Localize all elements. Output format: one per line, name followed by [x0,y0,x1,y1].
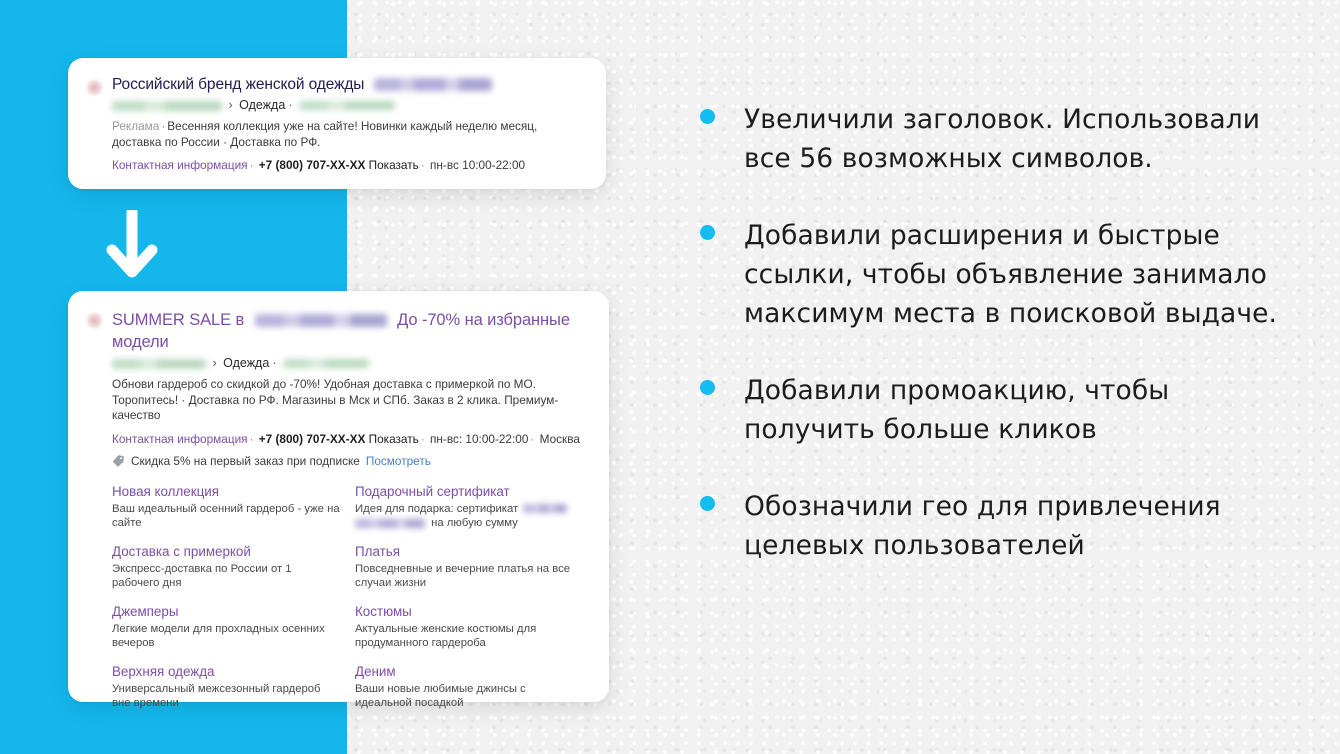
bullet-text: Добавили расширения и быстрые ссылки, чт… [744,216,1290,333]
sitelink-item[interactable]: Деним Ваши новые любимые джинсы с идеаль… [355,663,589,711]
url-category-before: Одежда [239,98,285,112]
ad-description-before-text: Весенняя коллекция уже на сайте! Новинки… [112,119,537,149]
url-separator: › [209,356,219,370]
site-favicon [86,79,103,96]
list-item: Добавили расширения и быстрые ссылки, чт… [700,216,1290,333]
ad-description-before: Реклама·Весенняя коллекция уже на сайте!… [112,119,586,150]
ad-promo-row[interactable]: Скидка 5% на первый заказ при подписке П… [112,453,589,469]
slide-canvas: Российский бренд женской одежды › Одежда… [0,0,1340,754]
sitelink-title[interactable]: Подарочный сертификат [355,483,589,501]
list-item: Обозначили гео для привлечения целевых п… [700,487,1290,565]
bullet-text: Увеличили заголовок. Использовали все 56… [744,100,1290,178]
site-favicon [86,312,103,329]
phone-number-after: +7 (800) 707-XX-XX [259,432,366,446]
sitelink-item[interactable]: Новая коллекция Ваш идеальный осенний га… [112,483,348,531]
sitelink-desc: Ваш идеальный осенний гардероб - уже на … [112,502,340,531]
show-phone-button-after[interactable]: Показать [369,432,419,446]
sitelinks-grid: Новая коллекция Ваш идеальный осенний га… [112,483,589,711]
redacted-domain-before [112,101,222,111]
bullet-dot-icon [700,109,715,124]
working-hours-before: пн-вс 10:00-22:00 [430,158,525,172]
working-hours-after: пн-вс: 10:00-22:00 [430,432,528,446]
ad-url-after[interactable]: › Одежда· [112,355,589,372]
redacted-url-tail-after [283,359,369,368]
sitelink-title[interactable]: Костюмы [355,603,589,621]
sitelink-item[interactable]: Платья Повседневные и вечерние платья на… [355,543,589,591]
sitelink-title[interactable]: Верхняя одежда [112,663,348,681]
ad-contact-before[interactable]: Контактная информация· +7 (800) 707-XX-X… [112,157,586,173]
bullet-text: Обозначили гео для привлечения целевых п… [744,487,1290,565]
sitelink-title[interactable]: Доставка с примеркой [112,543,348,561]
sitelink-desc: Идея для подарка: сертификат на любую су… [355,502,583,531]
promo-text: Скидка 5% на первый заказ при подписке [131,453,360,469]
ad-title-after[interactable]: SUMMER SALE в До -70% на избранные модел… [112,309,589,353]
sitelink-title[interactable]: Платья [355,543,589,561]
sitelink-title[interactable]: Новая коллекция [112,483,348,501]
price-tag-icon [112,454,125,467]
sitelink-title[interactable]: Деним [355,663,589,681]
contact-info-link-after[interactable]: Контактная информация [112,432,248,446]
bullet-dot-icon [700,225,715,240]
sitelink-desc-part1: Идея для подарка: сертификат [355,503,518,515]
promo-view-link[interactable]: Посмотреть [366,453,431,469]
redacted-url-tail-before [299,101,395,110]
ad-card-before[interactable]: Российский бренд женской одежды › Одежда… [68,58,606,189]
redacted-brand-after [255,314,387,327]
contact-info-link-before[interactable]: Контактная информация [112,158,248,172]
ad-description-after-text: Обнови гардероб со скидкой до -70%! Удоб… [112,377,558,422]
sitelink-desc: Легкие модели для прохладных осенних веч… [112,622,340,651]
bullet-text: Добавили промоакцию, чтобы получить боль… [744,371,1290,449]
list-item: Увеличили заголовок. Использовали все 56… [700,100,1290,178]
arrow-down-icon [104,210,160,282]
ad-label-before: Реклама [112,119,159,133]
sitelink-item[interactable]: Доставка с примеркой Экспресс-доставка п… [112,543,348,591]
ad-contact-after[interactable]: Контактная информация· +7 (800) 707-XX-X… [112,431,589,447]
redacted-sitelink-brand-2 [355,519,425,528]
sitelink-desc: Повседневные и вечерние платья на все сл… [355,562,583,591]
phone-number-before: +7 (800) 707-XX-XX [259,158,366,172]
sitelink-item[interactable]: Костюмы Актуальные женские костюмы для п… [355,603,589,651]
sitelink-desc: Актуальные женские костюмы для продуманн… [355,622,583,651]
ad-description-after: Обнови гардероб со скидкой до -70%! Удоб… [112,377,589,424]
ad-title-before[interactable]: Российский бренд женской одежды [112,75,586,95]
redacted-domain-after [112,359,206,369]
ad-title-before-text: Российский бренд женской одежды [112,76,364,93]
url-category-after: Одежда [223,356,269,370]
sitelink-item[interactable]: Джемперы Легкие модели для прохладных ос… [112,603,348,651]
sitelink-desc-part2: на любую сумму [431,517,518,529]
sitelink-item[interactable]: Верхняя одежда Универсальный межсезонный… [112,663,348,711]
ad-card-after[interactable]: SUMMER SALE в До -70% на избранные модел… [68,291,609,702]
sitelink-desc: Ваши новые любимые джинсы с идеальной по… [355,682,583,711]
ad-url-before[interactable]: › Одежда· [112,97,586,114]
show-phone-button-before[interactable]: Показать [369,158,419,172]
redacted-sitelink-brand [523,504,567,513]
bullet-dot-icon [700,380,715,395]
city-label-after: Москва [540,432,580,446]
url-separator: › [225,98,235,112]
takeaways-list: Увеличили заголовок. Использовали все 56… [700,100,1290,603]
ad-title-after-part1: SUMMER SALE в [112,311,244,329]
bullet-dot-icon [700,496,715,511]
redacted-brand-before [374,78,492,91]
sitelink-desc: Экспресс-доставка по России от 1 рабочег… [112,562,340,591]
sitelink-desc: Универсальный межсезонный гардероб вне в… [112,682,340,711]
sitelink-title[interactable]: Джемперы [112,603,348,621]
sitelink-item[interactable]: Подарочный сертификат Идея для подарка: … [355,483,589,531]
list-item: Добавили промоакцию, чтобы получить боль… [700,371,1290,449]
